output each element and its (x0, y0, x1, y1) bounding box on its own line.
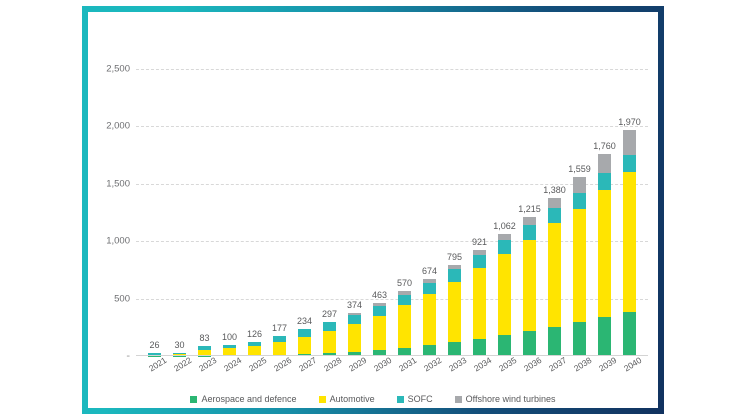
x-axis-tick-label: 2037 (546, 355, 567, 374)
bar-segment-sofc[interactable] (448, 269, 461, 281)
bar-value-label: 921 (472, 237, 487, 247)
stacked-bar[interactable] (623, 130, 636, 356)
x-axis-tick-label: 2025 (246, 355, 267, 374)
x-axis-tick-label: 2031 (396, 355, 417, 374)
bar-column[interactable]: 1,760 (592, 46, 617, 356)
bar-segment-sofc[interactable] (573, 193, 586, 209)
stacked-bar[interactable] (598, 154, 611, 356)
bar-segment-aerospace-and-defence[interactable] (623, 312, 636, 356)
bar-segment-automotive[interactable] (623, 172, 636, 312)
bar-value-label: 234 (297, 316, 312, 326)
bar-column[interactable]: 1,380 (542, 46, 567, 356)
stacked-bar[interactable] (273, 336, 286, 356)
x-axis-tick: 2038 (567, 358, 592, 386)
stacked-bar[interactable] (523, 217, 536, 357)
bar-segment-sofc[interactable] (298, 329, 311, 337)
bar-value-label: 795 (447, 252, 462, 262)
bar-value-label: 177 (272, 323, 287, 333)
bar-column[interactable]: 30 (167, 46, 192, 356)
x-axis-tick-label: 2032 (421, 355, 442, 374)
bar-segment-sofc[interactable] (348, 315, 361, 324)
stacked-bar[interactable] (548, 198, 561, 356)
bar-segment-aerospace-and-defence[interactable] (498, 335, 511, 356)
bar-value-label: 674 (422, 266, 437, 276)
x-axis-tick-label: 2036 (521, 355, 542, 374)
square-swatch-icon (397, 396, 404, 403)
x-axis-tick: 2024 (217, 358, 242, 386)
legend-item-label: Offshore wind turbines (466, 394, 556, 404)
x-axis-tick: 2026 (267, 358, 292, 386)
bar-column[interactable]: 1,970 (617, 46, 642, 356)
bar-segment-aerospace-and-defence[interactable] (548, 327, 561, 356)
bar-value-label: 374 (347, 300, 362, 310)
bar-value-label: 1,062 (493, 221, 516, 231)
x-axis-tick: 2025 (242, 358, 267, 386)
x-axis-tick: 2036 (517, 358, 542, 386)
bar-segment-aerospace-and-defence[interactable] (523, 331, 536, 356)
bar-segment-automotive[interactable] (548, 223, 561, 326)
chart-frame: -5001,0001,5002,0002,500 263083100126177… (82, 6, 664, 414)
x-axis-tick-label: 2030 (371, 355, 392, 374)
bar-segment-sofc[interactable] (548, 208, 561, 223)
x-axis-tick: 2033 (442, 358, 467, 386)
bar-segment-offshore-wind-turbines[interactable] (573, 177, 586, 193)
bar-column[interactable]: 100 (217, 46, 242, 356)
bar-segment-sofc[interactable] (423, 283, 436, 294)
bar-column[interactable]: 463 (367, 46, 392, 356)
bar-segment-automotive[interactable] (423, 294, 436, 345)
bar-segment-automotive[interactable] (248, 346, 261, 355)
x-axis-tick: 2040 (617, 358, 642, 386)
bar-value-label: 1,760 (593, 141, 616, 151)
x-axis-tick-label: 2040 (621, 355, 642, 374)
bar-segment-sofc[interactable] (598, 173, 611, 190)
x-axis-tick: 2035 (492, 358, 517, 386)
bar-segment-automotive[interactable] (348, 324, 361, 352)
bar-column[interactable]: 26 (142, 46, 167, 356)
bar-segment-automotive[interactable] (448, 282, 461, 343)
bar-value-label: 1,559 (568, 164, 591, 174)
bar-segment-offshore-wind-turbines[interactable] (598, 154, 611, 174)
bar-column[interactable]: 374 (342, 46, 367, 356)
bar-segment-sofc[interactable] (498, 240, 511, 254)
bar-segment-aerospace-and-defence[interactable] (573, 322, 586, 356)
bar-segment-automotive[interactable] (323, 331, 336, 354)
bar-column[interactable]: 1,062 (492, 46, 517, 356)
bar-column[interactable]: 795 (442, 46, 467, 356)
plot-area: -5001,0001,5002,0002,500 263083100126177… (136, 46, 648, 356)
y-axis-tick-label: 500 (114, 293, 130, 304)
bar-value-label: 463 (372, 290, 387, 300)
x-axis-tick-label: 2029 (346, 355, 367, 374)
bar-value-label: 570 (397, 278, 412, 288)
x-axis-tick-label: 2024 (221, 355, 242, 374)
bar-segment-automotive[interactable] (573, 209, 586, 322)
x-axis-tick-label: 2034 (471, 355, 492, 374)
bar-segment-offshore-wind-turbines[interactable] (623, 130, 636, 155)
x-axis-tick-label: 2026 (271, 355, 292, 374)
x-axis-tick: 2031 (392, 358, 417, 386)
bar-value-label: 297 (322, 309, 337, 319)
x-axis-tick: 2021 (142, 358, 167, 386)
x-axis-tick: 2023 (192, 358, 217, 386)
x-axis-tick-label: 2023 (196, 355, 217, 374)
stacked-bar[interactable] (448, 265, 461, 356)
bar-segment-automotive[interactable] (598, 190, 611, 317)
bar-segment-offshore-wind-turbines[interactable] (523, 217, 536, 226)
square-swatch-icon (190, 396, 197, 403)
chart-legend: Aerospace and defenceAutomotiveSOFCOffsh… (88, 394, 658, 404)
chart-canvas: -5001,0001,5002,0002,500 263083100126177… (88, 12, 658, 408)
stacked-bar[interactable] (398, 291, 411, 356)
bar-segment-automotive[interactable] (273, 342, 286, 354)
y-axis-tick-label: 2,500 (106, 63, 130, 74)
stacked-bar[interactable] (298, 329, 311, 356)
bar-segment-sofc[interactable] (323, 322, 336, 331)
bar-value-label: 1,970 (618, 117, 641, 127)
x-axis-tick-label: 2038 (571, 355, 592, 374)
square-swatch-icon (319, 396, 326, 403)
x-axis-tick: 2030 (367, 358, 392, 386)
stacked-bar[interactable] (323, 322, 336, 356)
x-axis-tick-label: 2035 (496, 355, 517, 374)
y-axis-tick-label: 1,500 (106, 178, 130, 189)
bar-segment-automotive[interactable] (498, 254, 511, 335)
x-axis-tick: 2032 (417, 358, 442, 386)
bar-segment-sofc[interactable] (373, 306, 386, 316)
y-axis-tick-label: 2,000 (106, 121, 130, 132)
bar-segment-sofc[interactable] (473, 255, 486, 268)
bar-segment-sofc[interactable] (398, 295, 411, 306)
bar-column[interactable]: 921 (467, 46, 492, 356)
legend-item[interactable]: SOFC (397, 394, 433, 404)
bar-segment-automotive[interactable] (373, 316, 386, 350)
bar-segment-automotive[interactable] (398, 305, 411, 348)
bar-column[interactable]: 297 (317, 46, 342, 356)
bar-segment-offshore-wind-turbines[interactable] (548, 198, 561, 208)
bar-segment-aerospace-and-defence[interactable] (448, 342, 461, 356)
x-axis-tick-label: 2033 (446, 355, 467, 374)
bar-column[interactable]: 126 (242, 46, 267, 356)
bar-segment-automotive[interactable] (298, 337, 311, 354)
y-axis-tick-label: - (126, 350, 130, 362)
x-axis-tick-label: 2022 (171, 355, 192, 374)
bar-value-label: 1,380 (543, 185, 566, 195)
bar-value-label: 30 (174, 340, 184, 350)
bar-column[interactable]: 234 (292, 46, 317, 356)
y-axis-tick-label: 1,000 (106, 236, 130, 247)
bar-group: 2630831001261772342973744635706747959211… (136, 46, 648, 356)
legend-item-label: Automotive (330, 394, 375, 404)
legend-item-label: SOFC (408, 394, 433, 404)
legend-item-label: Aerospace and defence (201, 394, 296, 404)
bar-value-label: 100 (222, 332, 237, 342)
stacked-bar[interactable] (573, 177, 586, 356)
bar-segment-automotive[interactable] (523, 240, 536, 331)
x-axis-tick: 2028 (317, 358, 342, 386)
stacked-bar[interactable] (473, 250, 486, 356)
bar-value-label: 126 (247, 329, 262, 339)
bar-segment-automotive[interactable] (473, 268, 486, 339)
x-axis-tick: 2022 (167, 358, 192, 386)
bar-column[interactable]: 1,559 (567, 46, 592, 356)
bar-column[interactable]: 674 (417, 46, 442, 356)
x-axis: 2021202220232024202520262027202820292030… (136, 358, 648, 386)
legend-item[interactable]: Offshore wind turbines (455, 394, 556, 404)
stacked-bar[interactable] (348, 313, 361, 356)
bar-value-label: 26 (149, 340, 159, 350)
bar-segment-sofc[interactable] (523, 225, 536, 240)
x-axis-tick: 2029 (342, 358, 367, 386)
bar-column[interactable]: 570 (392, 46, 417, 356)
bar-column[interactable]: 83 (192, 46, 217, 356)
x-axis-tick-label: 2028 (321, 355, 342, 374)
bar-column[interactable]: 177 (267, 46, 292, 356)
legend-item[interactable]: Aerospace and defence (190, 394, 296, 404)
x-axis-tick-label: 2027 (296, 355, 317, 374)
bar-value-label: 1,215 (518, 204, 541, 214)
bar-segment-aerospace-and-defence[interactable] (473, 339, 486, 356)
x-axis-tick: 2027 (292, 358, 317, 386)
bar-column[interactable]: 1,215 (517, 46, 542, 356)
bar-value-label: 83 (199, 333, 209, 343)
bar-segment-aerospace-and-defence[interactable] (598, 317, 611, 356)
stacked-bar[interactable] (373, 303, 386, 356)
x-axis-tick: 2034 (467, 358, 492, 386)
x-axis-tick-label: 2021 (146, 355, 167, 374)
bar-segment-sofc[interactable] (623, 155, 636, 173)
x-axis-tick-label: 2039 (596, 355, 617, 374)
x-axis-tick: 2037 (542, 358, 567, 386)
x-axis-tick: 2039 (592, 358, 617, 386)
stacked-bar[interactable] (423, 279, 436, 356)
stacked-bar[interactable] (498, 234, 511, 356)
square-swatch-icon (455, 396, 462, 403)
legend-item[interactable]: Automotive (319, 394, 375, 404)
stacked-bar[interactable] (248, 342, 261, 356)
